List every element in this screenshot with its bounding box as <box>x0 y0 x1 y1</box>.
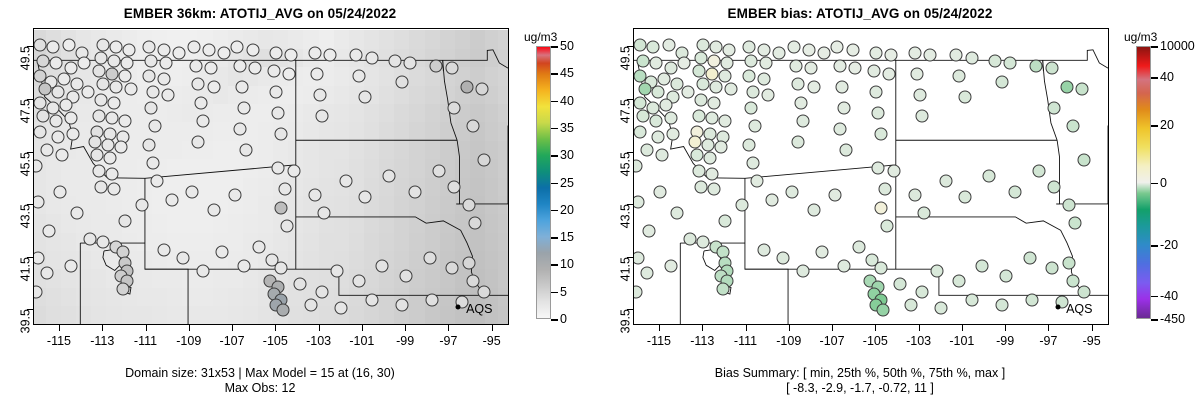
monitor-marker[interactable] <box>294 277 307 290</box>
monitor-marker[interactable] <box>790 59 803 72</box>
monitor-marker[interactable] <box>246 44 259 57</box>
monitor-marker[interactable] <box>47 41 60 54</box>
monitor-marker[interactable] <box>278 183 291 196</box>
monitor-marker[interactable] <box>878 183 891 196</box>
monitor-marker[interactable] <box>389 54 402 67</box>
monitor-marker[interactable] <box>742 138 755 151</box>
monitor-marker[interactable] <box>833 59 846 72</box>
monitor-marker[interactable] <box>90 149 103 162</box>
monitor-marker[interactable] <box>874 128 887 141</box>
monitor-marker[interactable] <box>1032 164 1045 177</box>
monitor-marker[interactable] <box>352 275 365 288</box>
monitor-marker[interactable] <box>49 114 62 127</box>
monitor-marker[interactable] <box>144 54 157 67</box>
monitor-marker[interactable] <box>309 188 322 201</box>
monitor-marker[interactable] <box>757 72 770 85</box>
monitor-marker[interactable] <box>71 206 84 219</box>
monitor-marker[interactable] <box>196 114 209 127</box>
monitor-marker[interactable] <box>274 128 287 141</box>
monitor-marker[interactable] <box>874 262 887 275</box>
monitor-marker[interactable] <box>309 46 322 59</box>
monitor-marker[interactable] <box>656 149 669 162</box>
monitor-marker[interactable] <box>118 114 131 127</box>
monitor-marker[interactable] <box>995 75 1008 88</box>
monitor-marker[interactable] <box>868 65 881 78</box>
monitor-marker[interactable] <box>400 270 413 283</box>
monitor-marker[interactable] <box>77 57 90 70</box>
monitor-marker[interactable] <box>785 185 798 198</box>
monitor-marker[interactable] <box>177 251 190 264</box>
monitor-marker[interactable] <box>121 57 134 70</box>
monitor-marker[interactable] <box>658 72 671 85</box>
monitor-marker[interactable] <box>445 62 458 75</box>
monitor-marker[interactable] <box>49 57 62 70</box>
monitor-marker[interactable] <box>692 109 705 122</box>
monitor-marker[interactable] <box>108 183 121 196</box>
monitor-marker[interactable] <box>352 70 365 83</box>
monitor-marker[interactable] <box>818 46 831 59</box>
monitor-marker[interactable] <box>147 86 160 99</box>
monitor-marker[interactable] <box>671 206 684 219</box>
monitor-marker[interactable] <box>467 120 480 133</box>
monitor-marker[interactable] <box>634 38 647 51</box>
monitor-marker[interactable] <box>447 101 460 114</box>
monitor-marker[interactable] <box>909 188 922 201</box>
monitor-marker[interactable] <box>58 72 71 85</box>
monitor-marker[interactable] <box>51 130 64 143</box>
monitor-marker[interactable] <box>38 83 51 96</box>
monitor-marker[interactable] <box>231 41 244 54</box>
monitor-marker[interactable] <box>281 220 294 233</box>
monitor-marker[interactable] <box>664 112 677 125</box>
monitor-marker[interactable] <box>749 120 762 133</box>
monitor-marker[interactable] <box>894 277 907 290</box>
monitor-marker[interactable] <box>721 57 734 70</box>
monitor-marker[interactable] <box>1000 270 1013 283</box>
monitor-marker[interactable] <box>682 86 695 99</box>
monitor-marker[interactable] <box>911 67 924 80</box>
monitor-marker[interactable] <box>285 49 298 62</box>
monitor-marker[interactable] <box>666 128 679 141</box>
monitor-marker[interactable] <box>1060 80 1073 93</box>
monitor-marker[interactable] <box>123 44 136 57</box>
monitor-marker[interactable] <box>757 44 770 57</box>
monitor-marker[interactable] <box>651 86 664 99</box>
monitor-marker[interactable] <box>829 188 842 201</box>
monitor-marker[interactable] <box>710 80 723 93</box>
monitor-marker[interactable] <box>64 112 77 125</box>
monitor-marker[interactable] <box>240 143 253 156</box>
monitor-marker[interactable] <box>151 175 164 188</box>
monitor-marker[interactable] <box>274 262 287 275</box>
monitor-marker[interactable] <box>157 243 170 256</box>
monitor-marker[interactable] <box>796 264 809 277</box>
monitor-marker[interactable] <box>1062 256 1075 269</box>
monitor-marker[interactable] <box>1047 101 1060 114</box>
monitor-marker[interactable] <box>97 235 110 248</box>
monitor-marker[interactable] <box>276 304 289 317</box>
monitor-marker[interactable] <box>62 38 75 51</box>
monitor-marker[interactable] <box>268 65 281 78</box>
monitor-marker[interactable] <box>1067 120 1080 133</box>
monitor-marker[interactable] <box>660 99 673 112</box>
monitor-marker[interactable] <box>950 49 963 62</box>
monitor-marker[interactable] <box>647 101 660 114</box>
monitor-marker[interactable] <box>697 38 710 51</box>
monitor-marker[interactable] <box>172 46 185 59</box>
monitor-marker[interactable] <box>196 264 209 277</box>
monitor-marker[interactable] <box>716 283 729 296</box>
monitor-marker[interactable] <box>194 96 207 109</box>
monitor-marker[interactable] <box>1026 293 1039 306</box>
monitor-marker[interactable] <box>313 88 326 101</box>
monitor-marker[interactable] <box>395 75 408 88</box>
monitor-marker[interactable] <box>101 138 114 151</box>
monitor-marker[interactable] <box>317 206 330 219</box>
monitor-marker[interactable] <box>710 41 723 54</box>
monitor-marker[interactable] <box>36 54 49 67</box>
monitor-marker[interactable] <box>36 109 49 122</box>
monitor-marker[interactable] <box>747 157 760 170</box>
monitor-marker[interactable] <box>982 170 995 183</box>
monitor-marker[interactable] <box>874 201 887 214</box>
monitor-marker[interactable] <box>125 83 138 96</box>
monitor-marker[interactable] <box>92 164 105 177</box>
monitor-marker[interactable] <box>634 125 647 138</box>
monitor-marker[interactable] <box>47 101 60 114</box>
monitor-marker[interactable] <box>159 57 172 70</box>
monitor-marker[interactable] <box>92 65 105 78</box>
monitor-marker[interactable] <box>1078 154 1091 167</box>
monitor-marker[interactable] <box>64 259 77 272</box>
monitor-marker[interactable] <box>788 41 801 54</box>
monitor-marker[interactable] <box>705 167 718 180</box>
monitor-marker[interactable] <box>690 149 703 162</box>
monitor-marker[interactable] <box>335 301 348 314</box>
monitor-marker[interactable] <box>915 109 928 122</box>
monitor-marker[interactable] <box>185 185 198 198</box>
monitor-marker[interactable] <box>762 88 775 101</box>
monitor-marker[interactable] <box>723 44 736 57</box>
monitor-marker[interactable] <box>110 41 123 54</box>
monitor-marker[interactable] <box>952 70 965 83</box>
monitor-marker[interactable] <box>853 241 866 254</box>
monitor-marker[interactable] <box>40 267 53 280</box>
monitor-marker[interactable] <box>651 130 664 143</box>
monitor-marker[interactable] <box>796 114 809 127</box>
monitor-marker[interactable] <box>917 206 930 219</box>
monitor-marker[interactable] <box>475 83 488 96</box>
monitor-marker[interactable] <box>772 46 785 59</box>
monitor-marker[interactable] <box>51 86 64 99</box>
monitor-marker[interactable] <box>1023 251 1036 264</box>
monitor-marker[interactable] <box>365 293 378 306</box>
monitor-marker[interactable] <box>283 67 296 80</box>
monitor-marker[interactable] <box>272 107 285 120</box>
monitor-marker[interactable] <box>324 49 337 62</box>
monitor-marker[interactable] <box>766 193 779 206</box>
monitor-marker[interactable] <box>311 67 324 80</box>
monitor-marker[interactable] <box>643 225 656 238</box>
monitor-marker[interactable] <box>692 164 705 177</box>
monitor-marker[interactable] <box>205 62 218 75</box>
monitor-marker[interactable] <box>742 70 755 83</box>
monitor-marker[interactable] <box>757 243 770 256</box>
monitor-marker[interactable] <box>95 93 108 106</box>
monitor-marker[interactable] <box>136 199 149 212</box>
monitor-marker[interactable] <box>935 301 948 314</box>
monitor-marker[interactable] <box>742 41 755 54</box>
monitor-marker[interactable] <box>883 67 896 80</box>
monitor-marker[interactable] <box>708 54 721 67</box>
monitor-marker[interactable] <box>677 57 690 70</box>
monitor-marker[interactable] <box>270 46 283 59</box>
monitor-marker[interactable] <box>339 175 352 188</box>
monitor-marker[interactable] <box>105 167 118 180</box>
monitor-marker[interactable] <box>695 51 708 64</box>
monitor-marker[interactable] <box>447 180 460 193</box>
monitor-marker[interactable] <box>92 109 105 122</box>
monitor-marker[interactable] <box>807 204 820 217</box>
monitor-marker[interactable] <box>885 49 898 62</box>
monitor-marker[interactable] <box>34 96 47 109</box>
monitor-marker[interactable] <box>467 275 480 288</box>
monitor-marker[interactable] <box>649 57 662 70</box>
monitor-marker[interactable] <box>708 183 721 196</box>
monitor-marker[interactable] <box>253 241 266 254</box>
monitor-marker[interactable] <box>97 38 110 51</box>
monitor-marker[interactable] <box>1004 57 1017 70</box>
monitor-marker[interactable] <box>872 162 885 175</box>
monitor-marker[interactable] <box>647 41 660 54</box>
monitor-marker[interactable] <box>684 233 697 246</box>
monitor-marker[interactable] <box>636 54 649 67</box>
monitor-marker[interactable] <box>462 256 475 269</box>
monitor-marker[interactable] <box>881 220 894 233</box>
monitor-marker[interactable] <box>736 199 749 212</box>
monitor-marker[interactable] <box>792 78 805 91</box>
monitor-marker[interactable] <box>995 298 1008 311</box>
monitor-marker[interactable] <box>108 54 121 67</box>
monitor-marker[interactable] <box>216 246 229 259</box>
monitor-marker[interactable] <box>157 44 170 57</box>
monitor-marker[interactable] <box>192 78 205 91</box>
monitor-marker[interactable] <box>478 285 491 298</box>
monitor-marker[interactable] <box>233 59 246 72</box>
monitor-marker[interactable] <box>794 96 807 109</box>
monitor-marker[interactable] <box>697 78 710 91</box>
monitor-marker[interactable] <box>149 120 162 133</box>
monitor-marker[interactable] <box>147 157 160 170</box>
monitor-marker[interactable] <box>718 114 731 127</box>
monitor-marker[interactable] <box>233 122 246 135</box>
monitor-marker[interactable] <box>695 93 708 106</box>
monitor-marker[interactable] <box>408 185 421 198</box>
monitor-marker[interactable] <box>1067 275 1080 288</box>
monitor-marker[interactable] <box>116 283 129 296</box>
monitor-marker[interactable] <box>887 164 900 177</box>
monitor-marker[interactable] <box>350 49 363 62</box>
monitor-marker[interactable] <box>703 151 716 164</box>
monitor-marker[interactable] <box>1045 62 1058 75</box>
monitor-marker[interactable] <box>82 86 95 99</box>
monitor-marker[interactable] <box>924 49 937 62</box>
monitor-marker[interactable] <box>53 185 66 198</box>
monitor-marker[interactable] <box>43 225 56 238</box>
monitor-marker[interactable] <box>718 214 731 227</box>
plot-area-bias[interactable]: AQS <box>633 28 1109 325</box>
monitor-marker[interactable] <box>229 188 242 201</box>
monitor-marker[interactable] <box>1075 83 1088 96</box>
monitor-marker[interactable] <box>640 143 653 156</box>
monitor-marker[interactable] <box>636 109 649 122</box>
monitor-marker[interactable] <box>237 259 250 272</box>
monitor-marker[interactable] <box>395 298 408 311</box>
monitor-marker[interactable] <box>478 154 491 167</box>
monitor-marker[interactable] <box>207 80 220 93</box>
monitor-marker[interactable] <box>304 298 317 311</box>
monitor-marker[interactable] <box>634 96 647 109</box>
monitor-marker[interactable] <box>1047 180 1060 193</box>
monitor-marker[interactable] <box>95 51 108 64</box>
monitor-marker[interactable] <box>359 91 372 104</box>
monitor-marker[interactable] <box>88 136 101 149</box>
monitor-marker[interactable] <box>445 262 458 275</box>
monitor-marker[interactable] <box>989 54 1002 67</box>
monitor-marker[interactable] <box>744 54 757 67</box>
monitor-marker[interactable] <box>952 275 965 288</box>
monitor-marker[interactable] <box>330 264 343 277</box>
monitor-marker[interactable] <box>430 59 443 72</box>
monitor-marker[interactable] <box>84 233 97 246</box>
monitor-marker[interactable] <box>237 101 250 114</box>
monitor-marker[interactable] <box>469 217 482 230</box>
monitor-marker[interactable] <box>166 193 179 206</box>
monitor-marker[interactable] <box>1030 59 1043 72</box>
monitor-marker[interactable] <box>833 122 846 135</box>
monitor-marker[interactable] <box>190 59 203 72</box>
monitor-marker[interactable] <box>664 259 677 272</box>
monitor-marker[interactable] <box>34 125 47 138</box>
monitor-marker[interactable] <box>837 101 850 114</box>
monitor-marker[interactable] <box>747 86 760 99</box>
monitor-marker[interactable] <box>803 44 816 57</box>
monitor-marker[interactable] <box>640 267 653 280</box>
monitor-marker[interactable] <box>162 88 175 101</box>
monitor-marker[interactable] <box>108 96 121 109</box>
monitor-marker[interactable] <box>965 293 978 306</box>
monitor-marker[interactable] <box>315 285 328 298</box>
monitor-marker[interactable] <box>976 259 989 272</box>
monitor-marker[interactable] <box>1062 199 1075 212</box>
monitor-marker[interactable] <box>203 44 216 57</box>
monitor-marker[interactable] <box>1069 217 1082 230</box>
monitor-marker[interactable] <box>692 65 705 78</box>
monitor-marker[interactable] <box>272 162 285 175</box>
monitor-marker[interactable] <box>365 51 378 64</box>
monitor-marker[interactable] <box>805 62 818 75</box>
monitor-marker[interactable] <box>34 38 47 51</box>
monitor-marker[interactable] <box>930 264 943 277</box>
monitor-marker[interactable] <box>97 78 110 91</box>
monitor-marker[interactable] <box>404 57 417 70</box>
monitor-marker[interactable] <box>846 44 859 57</box>
monitor-marker[interactable] <box>66 128 79 141</box>
monitor-marker[interactable] <box>192 136 205 149</box>
monitor-marker[interactable] <box>872 107 885 120</box>
monitor-marker[interactable] <box>40 143 53 156</box>
monitor-marker[interactable] <box>835 80 848 93</box>
monitor-marker[interactable] <box>157 72 170 85</box>
monitor-marker[interactable] <box>110 80 123 93</box>
monitor-marker[interactable] <box>653 185 666 198</box>
monitor-marker[interactable] <box>959 191 972 204</box>
monitor-marker[interactable] <box>725 83 738 96</box>
monitor-marker[interactable] <box>207 204 220 217</box>
monitor-marker[interactable] <box>218 46 231 59</box>
monitor-marker[interactable] <box>460 80 473 93</box>
monitor-marker[interactable] <box>662 38 675 51</box>
monitor-marker[interactable] <box>751 175 764 188</box>
monitor-marker[interactable] <box>462 199 475 212</box>
monitor-marker[interactable] <box>913 88 926 101</box>
monitor-marker[interactable] <box>118 214 131 227</box>
monitor-marker[interactable] <box>1078 285 1091 298</box>
monitor-marker[interactable] <box>759 57 772 70</box>
monitor-marker[interactable] <box>870 86 883 99</box>
monitor-marker[interactable] <box>248 62 261 75</box>
monitor-marker[interactable] <box>382 170 395 183</box>
monitor-marker[interactable] <box>792 136 805 149</box>
monitor-marker[interactable] <box>274 201 287 214</box>
monitor-marker[interactable] <box>744 101 757 114</box>
plot-area-model[interactable]: AQS <box>33 28 509 325</box>
monitor-marker[interactable] <box>904 298 917 311</box>
monitor-marker[interactable] <box>270 86 283 99</box>
monitor-marker[interactable] <box>188 41 201 54</box>
monitor-marker[interactable] <box>965 51 978 64</box>
monitor-marker[interactable] <box>649 114 662 127</box>
monitor-marker[interactable] <box>777 251 790 264</box>
monitor-marker[interactable] <box>235 80 248 93</box>
monitor-marker[interactable] <box>816 246 829 259</box>
monitor-marker[interactable] <box>831 41 844 54</box>
monitor-marker[interactable] <box>103 151 116 164</box>
monitor-marker[interactable] <box>315 109 328 122</box>
monitor-marker[interactable] <box>915 285 928 298</box>
monitor-marker[interactable] <box>959 91 972 104</box>
monitor-marker[interactable] <box>426 293 439 306</box>
monitor-marker[interactable] <box>423 251 436 264</box>
monitor-marker[interactable] <box>705 112 718 125</box>
monitor-marker[interactable] <box>105 112 118 125</box>
monitor-marker[interactable] <box>95 180 108 193</box>
monitor-marker[interactable] <box>708 96 721 109</box>
monitor-marker[interactable] <box>939 175 952 188</box>
monitor-marker[interactable] <box>144 101 157 114</box>
monitor-marker[interactable] <box>287 164 300 177</box>
monitor-marker[interactable] <box>142 70 155 83</box>
monitor-marker[interactable] <box>56 149 69 162</box>
monitor-marker[interactable] <box>359 191 372 204</box>
monitor-marker[interactable] <box>688 136 701 149</box>
monitor-marker[interactable] <box>432 164 445 177</box>
monitor-marker[interactable] <box>848 62 861 75</box>
monitor-marker[interactable] <box>638 83 651 96</box>
monitor-marker[interactable] <box>376 259 389 272</box>
monitor-marker[interactable] <box>714 141 727 154</box>
monitor-marker[interactable] <box>142 41 155 54</box>
